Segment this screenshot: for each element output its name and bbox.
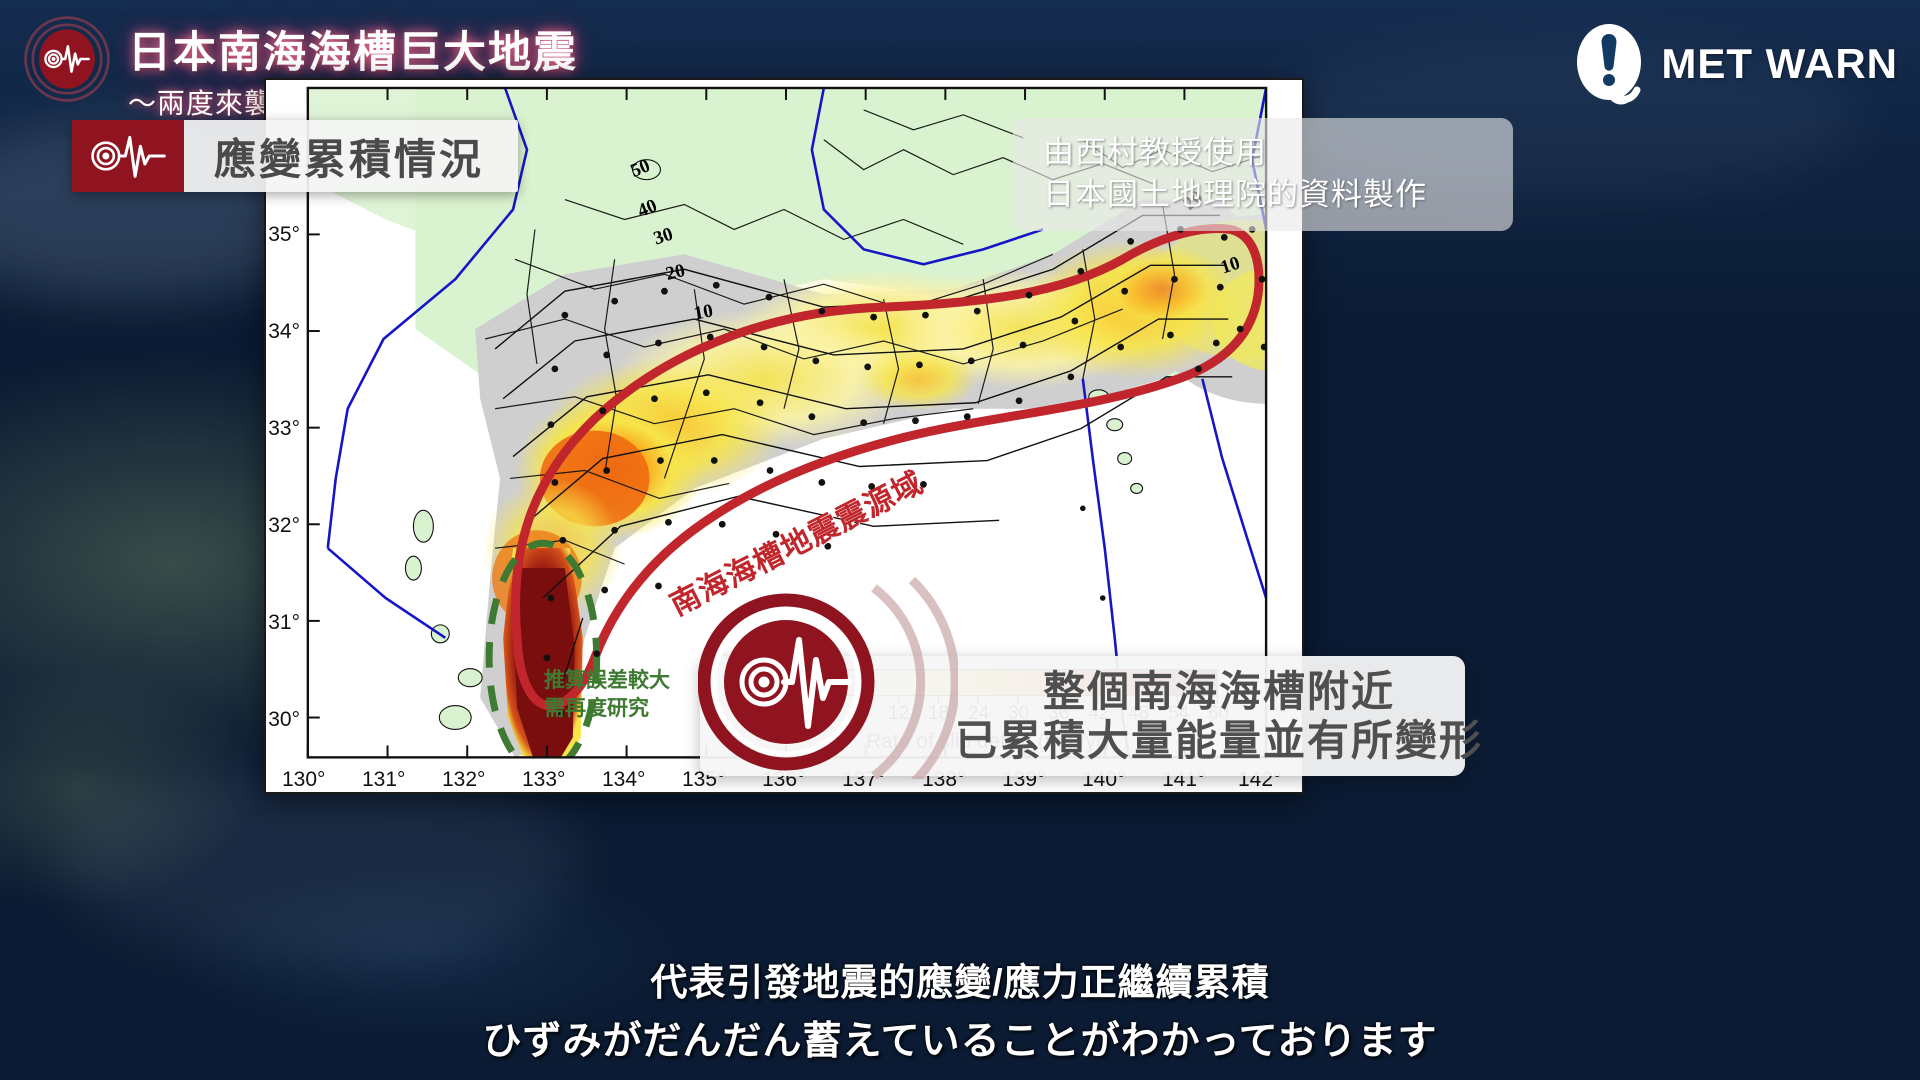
subtitle-area: 代表引發地震的應變/應力正繼續累積 ひずみがだんだん蓄えていることがわかっており… (0, 952, 1920, 1066)
source-note-line1: 由西村教授使用 (1043, 132, 1495, 174)
x-tick-label: 133° (522, 768, 565, 792)
callout-line1: 整個南海海槽附近 (955, 668, 1483, 715)
brand-name: MET WARN (1661, 40, 1898, 88)
error-note-line2: 需再度研究 (544, 696, 649, 722)
error-note-line1: 推算誤差較大 (544, 668, 670, 694)
y-tick-label: 31° (264, 611, 300, 635)
x-tick-label: 134° (602, 768, 645, 792)
section-tag-label: 應變累積情況 (184, 126, 518, 187)
section-tag: 應變累積情況 (72, 120, 518, 192)
callout-text: 整個南海海槽附近 已累積大量能量並有所變形 (955, 668, 1483, 764)
source-note-line2: 日本國土地理院的資料製作 (1043, 174, 1495, 216)
y-tick-label: 34° (264, 320, 300, 344)
brand-logo: MET WARN (1575, 22, 1898, 106)
y-tick-label: 33° (264, 417, 300, 441)
x-tick-label: 131° (362, 768, 405, 792)
seismic-waves-icon (698, 574, 958, 779)
contour-label: 10 (692, 301, 715, 326)
exclamation-warning-icon (1575, 22, 1647, 106)
x-tick-label: 130° (282, 768, 325, 792)
page-title: 日本南海海槽巨大地震 (128, 18, 578, 80)
seismograph-icon (72, 120, 184, 192)
subtitle-japanese: ひずみがだんだん蓄えていることがわかっております (0, 1010, 1920, 1066)
y-tick-label: 30° (264, 708, 300, 732)
callout-line2: 已累積大量能量並有所變形 (955, 717, 1483, 764)
y-tick-label: 35° (264, 223, 300, 247)
x-tick-label: 132° (442, 768, 485, 792)
y-tick-label: 32° (264, 514, 300, 538)
seismograph-icon (22, 14, 112, 104)
subtitle-chinese: 代表引發地震的應變/應力正繼續累積 (0, 952, 1920, 1006)
callout-box: 整個南海海槽附近 已累積大量能量並有所變形 (700, 656, 1465, 776)
source-note: 由西村教授使用 日本國土地理院的資料製作 (1013, 118, 1513, 231)
